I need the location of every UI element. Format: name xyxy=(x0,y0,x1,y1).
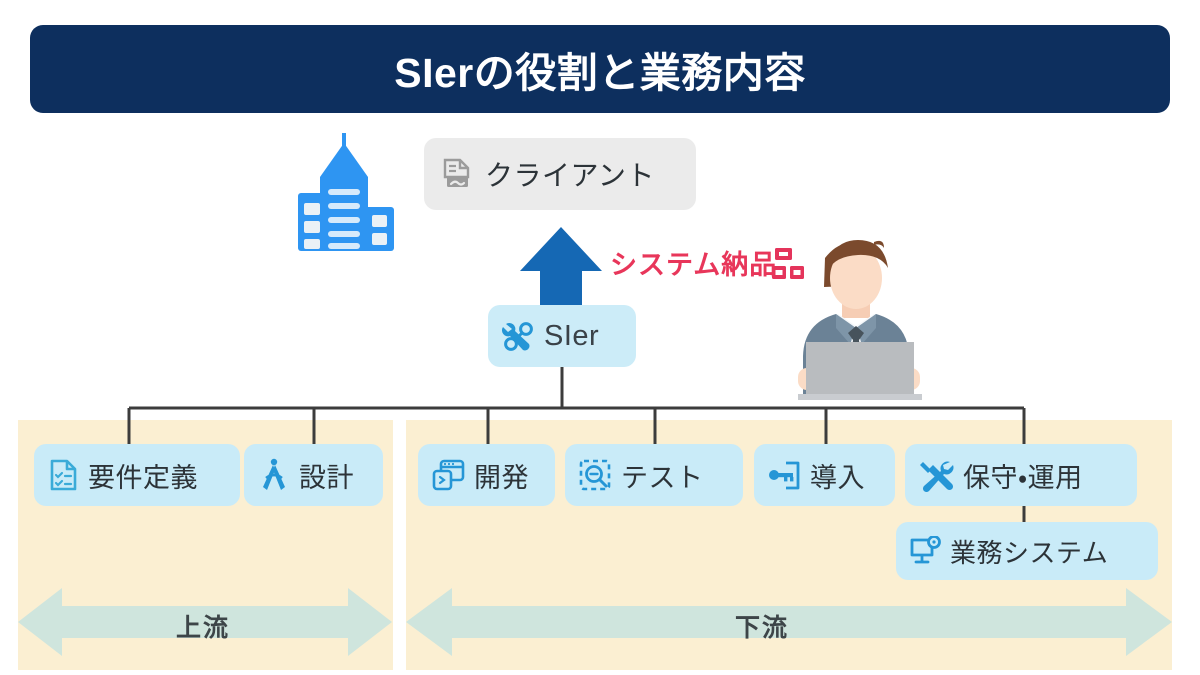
code-window-icon xyxy=(432,459,465,491)
process-label: テスト xyxy=(621,456,704,495)
checklist-document-icon xyxy=(48,458,79,492)
tools-wrench-icon xyxy=(502,320,536,352)
title-banner: SIerの役割と業務内容 xyxy=(30,25,1170,113)
businessman-with-laptop-illustration xyxy=(770,222,950,400)
process-box-test[interactable]: テスト xyxy=(565,444,743,506)
wrench-screwdriver-icon xyxy=(919,459,954,492)
diagram-canvas: SIerの役割と業務内容 xyxy=(0,0,1200,675)
process-box-requirements[interactable]: 要件定義 xyxy=(34,444,240,506)
contract-document-icon xyxy=(440,157,474,191)
system-delivery-label: システム納品 xyxy=(610,243,777,282)
process-label: 設計 xyxy=(299,456,354,495)
process-label: 保守・運用 xyxy=(963,456,1083,495)
page-title: SIerの役割と業務内容 xyxy=(394,39,806,99)
business-system-label: 業務システム xyxy=(950,533,1108,570)
process-box-deployment[interactable]: 導入 xyxy=(754,444,895,506)
office-building-icon xyxy=(284,133,408,253)
upstream-label: 上流 xyxy=(176,608,230,644)
system-delivery-arrow-icon xyxy=(516,225,606,311)
business-system-box[interactable]: 業務システム xyxy=(896,522,1158,580)
compass-design-icon xyxy=(258,458,290,492)
process-box-design[interactable]: 設計 xyxy=(244,444,383,506)
client-box[interactable]: クライアント xyxy=(424,138,696,210)
process-label: 要件定義 xyxy=(88,456,198,495)
sier-label: SIer xyxy=(544,320,599,353)
downstream-label: 下流 xyxy=(735,608,789,644)
process-box-maintenance[interactable]: 保守・運用 xyxy=(905,444,1137,506)
process-label: 開発 xyxy=(474,456,529,495)
client-label: クライアント xyxy=(485,154,655,194)
sier-box[interactable]: SIer xyxy=(488,305,636,367)
search-inspect-icon xyxy=(579,459,612,492)
process-label: 導入 xyxy=(810,456,865,495)
key-login-icon xyxy=(768,460,801,491)
process-box-development[interactable]: 開発 xyxy=(418,444,555,506)
monitor-gear-icon xyxy=(909,536,941,566)
